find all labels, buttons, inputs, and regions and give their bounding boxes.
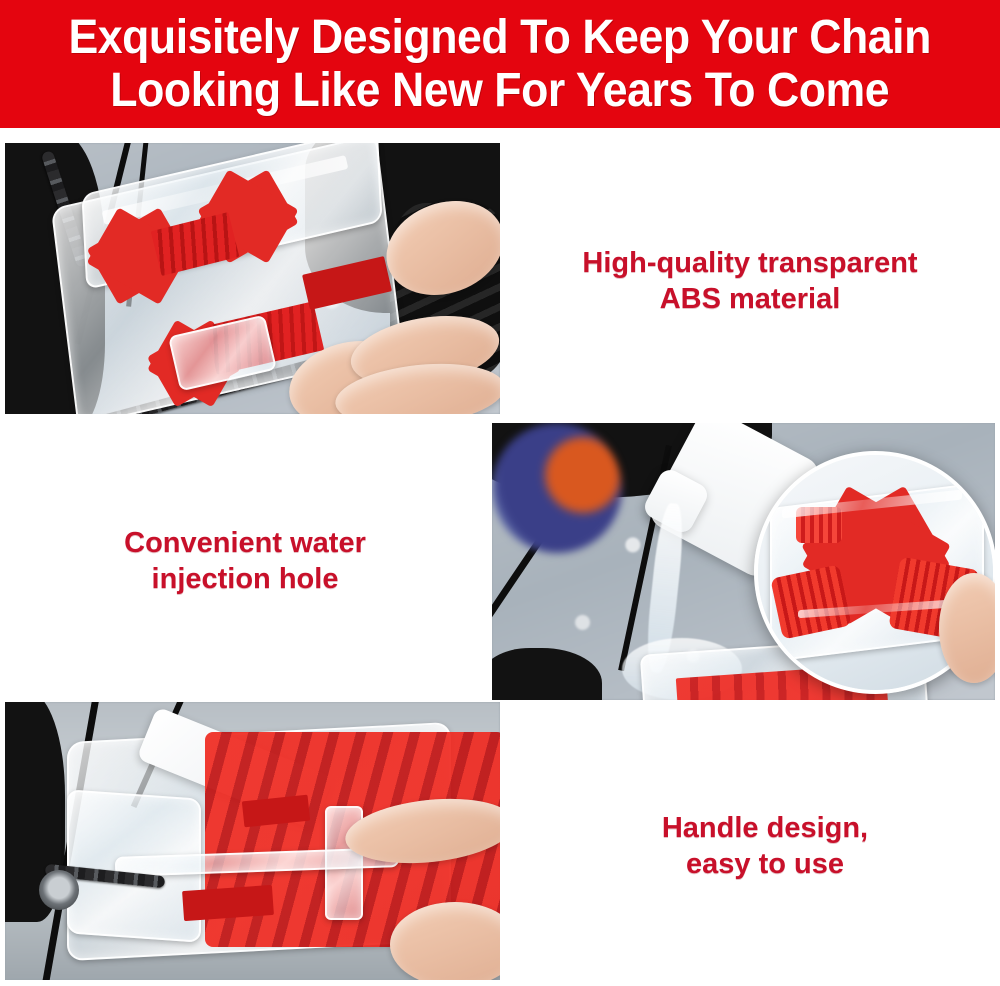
product-photo-handle-design: [5, 702, 500, 980]
caption-high-quality-abs-material: High-quality transparent ABS material: [540, 245, 960, 317]
caption-handle-design-easy-to-use: Handle design, easy to use: [600, 810, 930, 882]
caption-convenient-water-injection-hole: Convenient water injection hole: [70, 525, 420, 597]
photo3-red-pin-2: [182, 885, 274, 921]
infographic-page: Exquisitely Designed To Keep Your Chain …: [0, 0, 1000, 986]
banner-headline-line-2: Looking Like New For Years To Come: [111, 64, 890, 117]
product-photo-water-injection-hole: [492, 423, 995, 700]
banner-headline-line-1: Exquisitely Designed To Keep Your Chain: [69, 11, 931, 64]
photo2-background-object: [492, 423, 622, 553]
header-banner: Exquisitely Designed To Keep Your Chain …: [0, 0, 1000, 128]
photo3-pulley: [39, 870, 79, 910]
product-photo-chain-cleaner-on-chain: [5, 143, 500, 414]
